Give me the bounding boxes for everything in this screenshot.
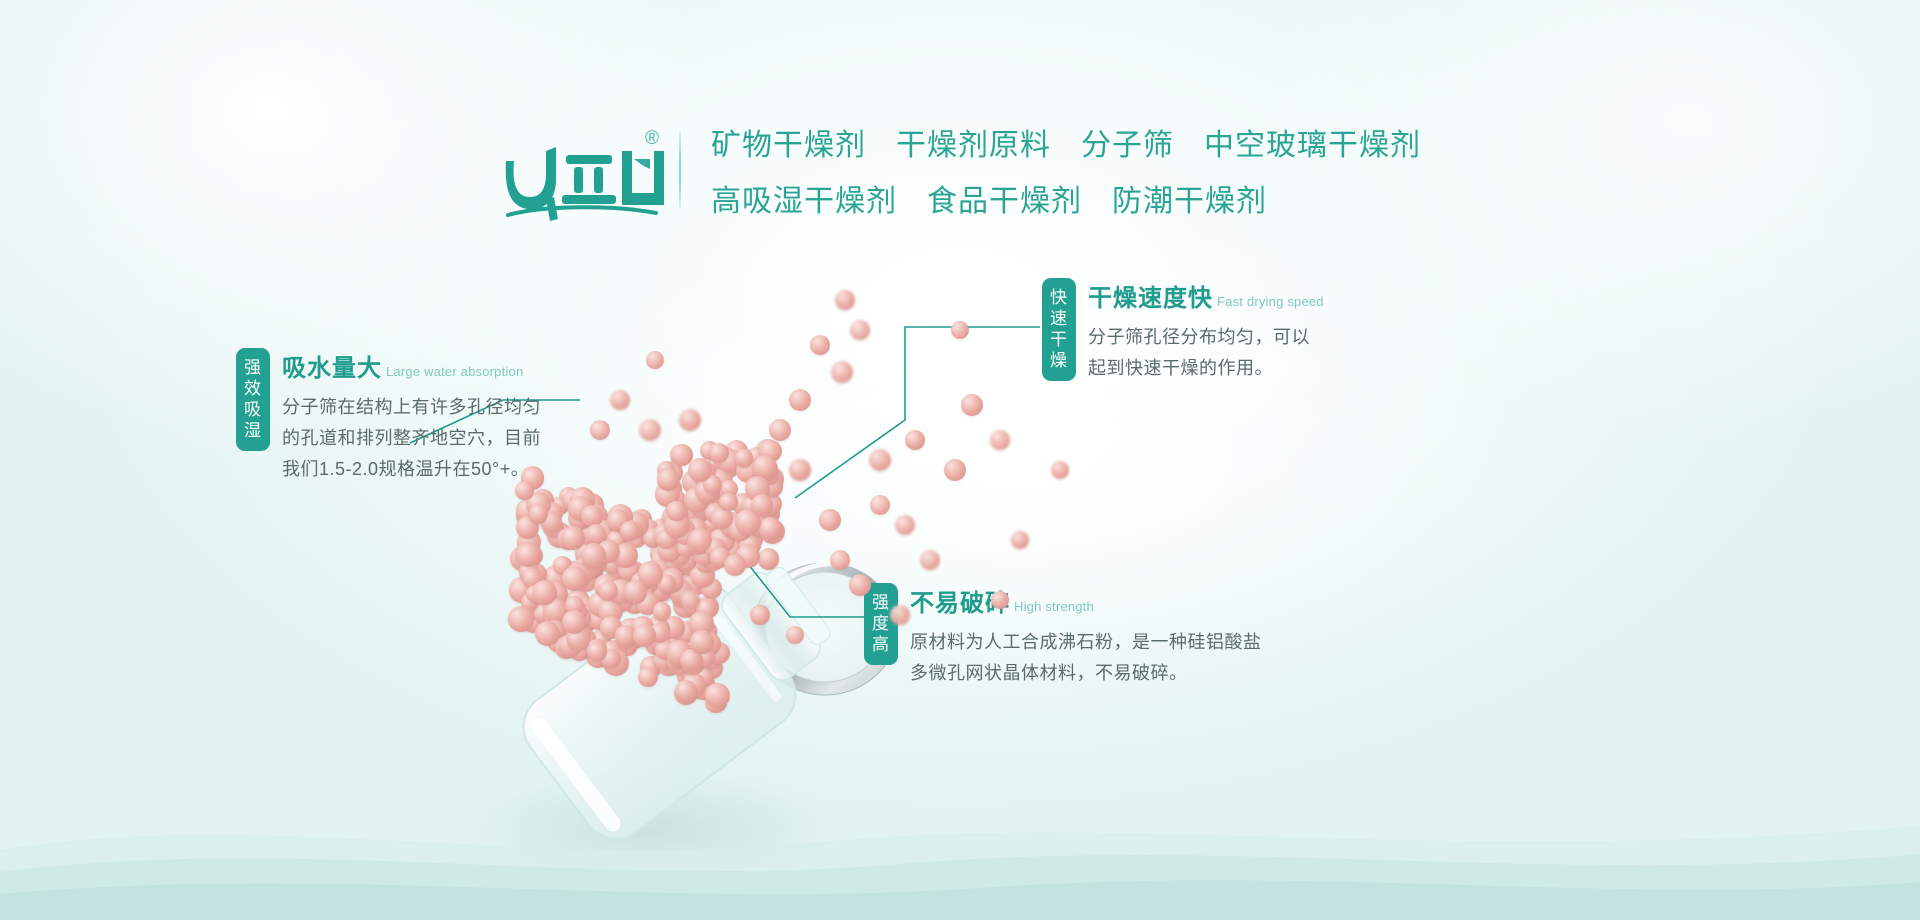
callout-title: 吸水量大: [282, 348, 382, 383]
nav-row-2: 高吸湿干燥剂 食品干燥剂 防潮干燥剂: [711, 176, 1421, 220]
desiccant-bead: [920, 550, 940, 570]
desiccant-bead: [831, 361, 853, 383]
desiccant-bead: [819, 509, 841, 531]
desiccant-bead: [581, 505, 603, 527]
desiccant-bead: [751, 494, 773, 516]
callout-body: 吸水量大 Large water absorption 分子筛在结构上有许多孔径…: [282, 348, 541, 485]
callout-badge: 快 速 干 燥: [1042, 278, 1076, 381]
nav-item-desiccant-raw-material[interactable]: 干燥剂原料: [896, 120, 1051, 164]
desiccant-bead: [789, 389, 811, 411]
desiccant-bead: [624, 580, 648, 604]
badge-char: 快: [1042, 287, 1076, 308]
callout-title-row: 不易破碎 High strength: [910, 583, 1262, 618]
desiccant-bead: [944, 459, 966, 481]
desiccant-bead: [587, 642, 606, 661]
callout-subtitle: High strength: [1014, 599, 1094, 614]
desiccant-bead: [789, 459, 811, 481]
desiccant-bead: [666, 501, 687, 522]
desiccant-bead: [562, 566, 587, 591]
header-divider: [679, 131, 681, 209]
callout-subtitle: Large water absorption: [386, 364, 523, 379]
desiccant-bead: [599, 581, 618, 600]
desiccant-bead: [535, 621, 560, 646]
desiccant-bead: [590, 420, 610, 440]
desiccant-bead: [895, 515, 915, 535]
desiccant-bead: [515, 481, 534, 500]
desiccant-bead: [991, 591, 1009, 609]
desiccant-bead: [690, 630, 713, 653]
nav-item-insulating-glass-desiccant[interactable]: 中空玻璃干燥剂: [1204, 120, 1421, 164]
brand-logo[interactable]: ®: [499, 115, 669, 225]
desiccant-bead: [835, 290, 855, 310]
desiccant-bead: [830, 550, 850, 570]
callout-badge: 强 度 高: [864, 583, 898, 665]
site-header: ® 矿物干燥剂 干燥剂原料 分子筛 中空玻璃干燥剂 高吸湿干燥剂 食品干燥剂 防…: [0, 110, 1920, 230]
desiccant-bead: [561, 526, 585, 550]
desiccant-bead: [890, 605, 910, 625]
desiccant-bead: [961, 394, 983, 416]
nav-item-food-desiccant[interactable]: 食品干燥剂: [927, 176, 1082, 220]
desiccant-bead: [633, 624, 656, 647]
desiccant-bead: [850, 320, 870, 340]
badge-char: 吸: [236, 399, 270, 420]
nav-item-moisture-proof-desiccant[interactable]: 防潮干燥剂: [1112, 176, 1267, 220]
callout-badge: 强 效 吸 湿: [236, 348, 270, 451]
registered-mark: ®: [645, 129, 659, 148]
desiccant-bead: [990, 430, 1010, 450]
callout-high-strength: 强 度 高 不易破碎 High strength 原材料为人工合成沸石粉，是一种…: [864, 583, 1262, 689]
callout-text: 分子筛孔径分布均匀，可以 起到快速干燥的作用。: [1088, 322, 1324, 384]
badge-char: 高: [864, 634, 898, 655]
desiccant-bead: [724, 554, 746, 576]
desiccant-bead: [719, 493, 738, 512]
desiccant-bead: [870, 495, 890, 515]
banner-root: ® 矿物干燥剂 干燥剂原料 分子筛 中空玻璃干燥剂 高吸湿干燥剂 食品干燥剂 防…: [0, 0, 1920, 920]
desiccant-bead: [769, 419, 791, 441]
desiccant-bead: [639, 419, 661, 441]
callout-text: 分子筛在结构上有许多孔径均匀 的孔道和排列整齐地空穴，目前 我们1.5-2.0规…: [282, 392, 541, 485]
desiccant-bead: [951, 321, 969, 339]
callout-fast-drying-speed: 快 速 干 燥 干燥速度快 Fast drying speed 分子筛孔径分布均…: [1042, 278, 1324, 384]
desiccant-bead: [849, 574, 871, 596]
badge-char: 燥: [1042, 350, 1076, 371]
desiccant-bead: [679, 409, 701, 431]
desiccant-bead: [581, 543, 607, 569]
desiccant-bead: [657, 468, 679, 490]
badge-char: 速: [1042, 308, 1076, 329]
desiccant-bead: [750, 605, 770, 625]
badge-char: 干: [1042, 329, 1076, 350]
desiccant-bead: [786, 626, 804, 644]
nav-keywords: 矿物干燥剂 干燥剂原料 分子筛 中空玻璃干燥剂 高吸湿干燥剂 食品干燥剂 防潮干…: [711, 120, 1421, 220]
callout-large-water-absorption: 强 效 吸 湿 吸水量大 Large water absorption 分子筛在…: [236, 348, 541, 485]
desiccant-bead: [620, 521, 640, 541]
desiccant-bead: [1051, 461, 1069, 479]
desiccant-bead: [869, 449, 891, 471]
nav-item-mineral-desiccant[interactable]: 矿物干燥剂: [711, 120, 866, 164]
badge-char: 效: [236, 378, 270, 399]
desiccant-bead: [529, 504, 549, 524]
desiccant-bead: [688, 458, 712, 482]
desiccant-bead: [653, 602, 671, 620]
badge-char: 湿: [236, 420, 270, 441]
bottom-wave-decoration: [0, 730, 1920, 920]
product-photo: [0, 230, 1920, 790]
badge-char: 强: [236, 357, 270, 378]
desiccant-bead: [508, 606, 533, 631]
callout-title: 干燥速度快: [1088, 278, 1213, 313]
nav-item-high-moisture-absorption-desiccant[interactable]: 高吸湿干燥剂: [711, 176, 897, 220]
nav-item-molecular-sieve[interactable]: 分子筛: [1081, 120, 1174, 164]
callout-title-row: 干燥速度快 Fast drying speed: [1088, 278, 1324, 313]
desiccant-bead: [610, 390, 630, 410]
callout-subtitle: Fast drying speed: [1217, 294, 1324, 309]
desiccant-bead: [1011, 531, 1029, 549]
desiccant-bead: [688, 528, 712, 552]
desiccant-bead: [758, 548, 779, 569]
yaqi-logo-mark: [504, 139, 664, 225]
desiccant-bead: [680, 590, 700, 610]
desiccant-bead: [735, 449, 753, 467]
callout-title-row: 吸水量大 Large water absorption: [282, 348, 541, 383]
nav-row-1: 矿物干燥剂 干燥剂原料 分子筛 中空玻璃干燥剂: [711, 120, 1421, 164]
desiccant-bead: [810, 335, 830, 355]
desiccant-bead: [905, 430, 925, 450]
desiccant-bead: [516, 543, 541, 568]
desiccant-bead: [646, 351, 664, 369]
desiccant-bead: [532, 580, 557, 605]
callout-body: 干燥速度快 Fast drying speed 分子筛孔径分布均匀，可以 起到快…: [1088, 278, 1324, 384]
callout-text: 原材料为人工合成沸石粉，是一种硅铝酸盐 多微孔网状晶体材料，不易破碎。: [910, 627, 1262, 689]
callout-body: 不易破碎 High strength 原材料为人工合成沸石粉，是一种硅铝酸盐 多…: [910, 583, 1262, 689]
